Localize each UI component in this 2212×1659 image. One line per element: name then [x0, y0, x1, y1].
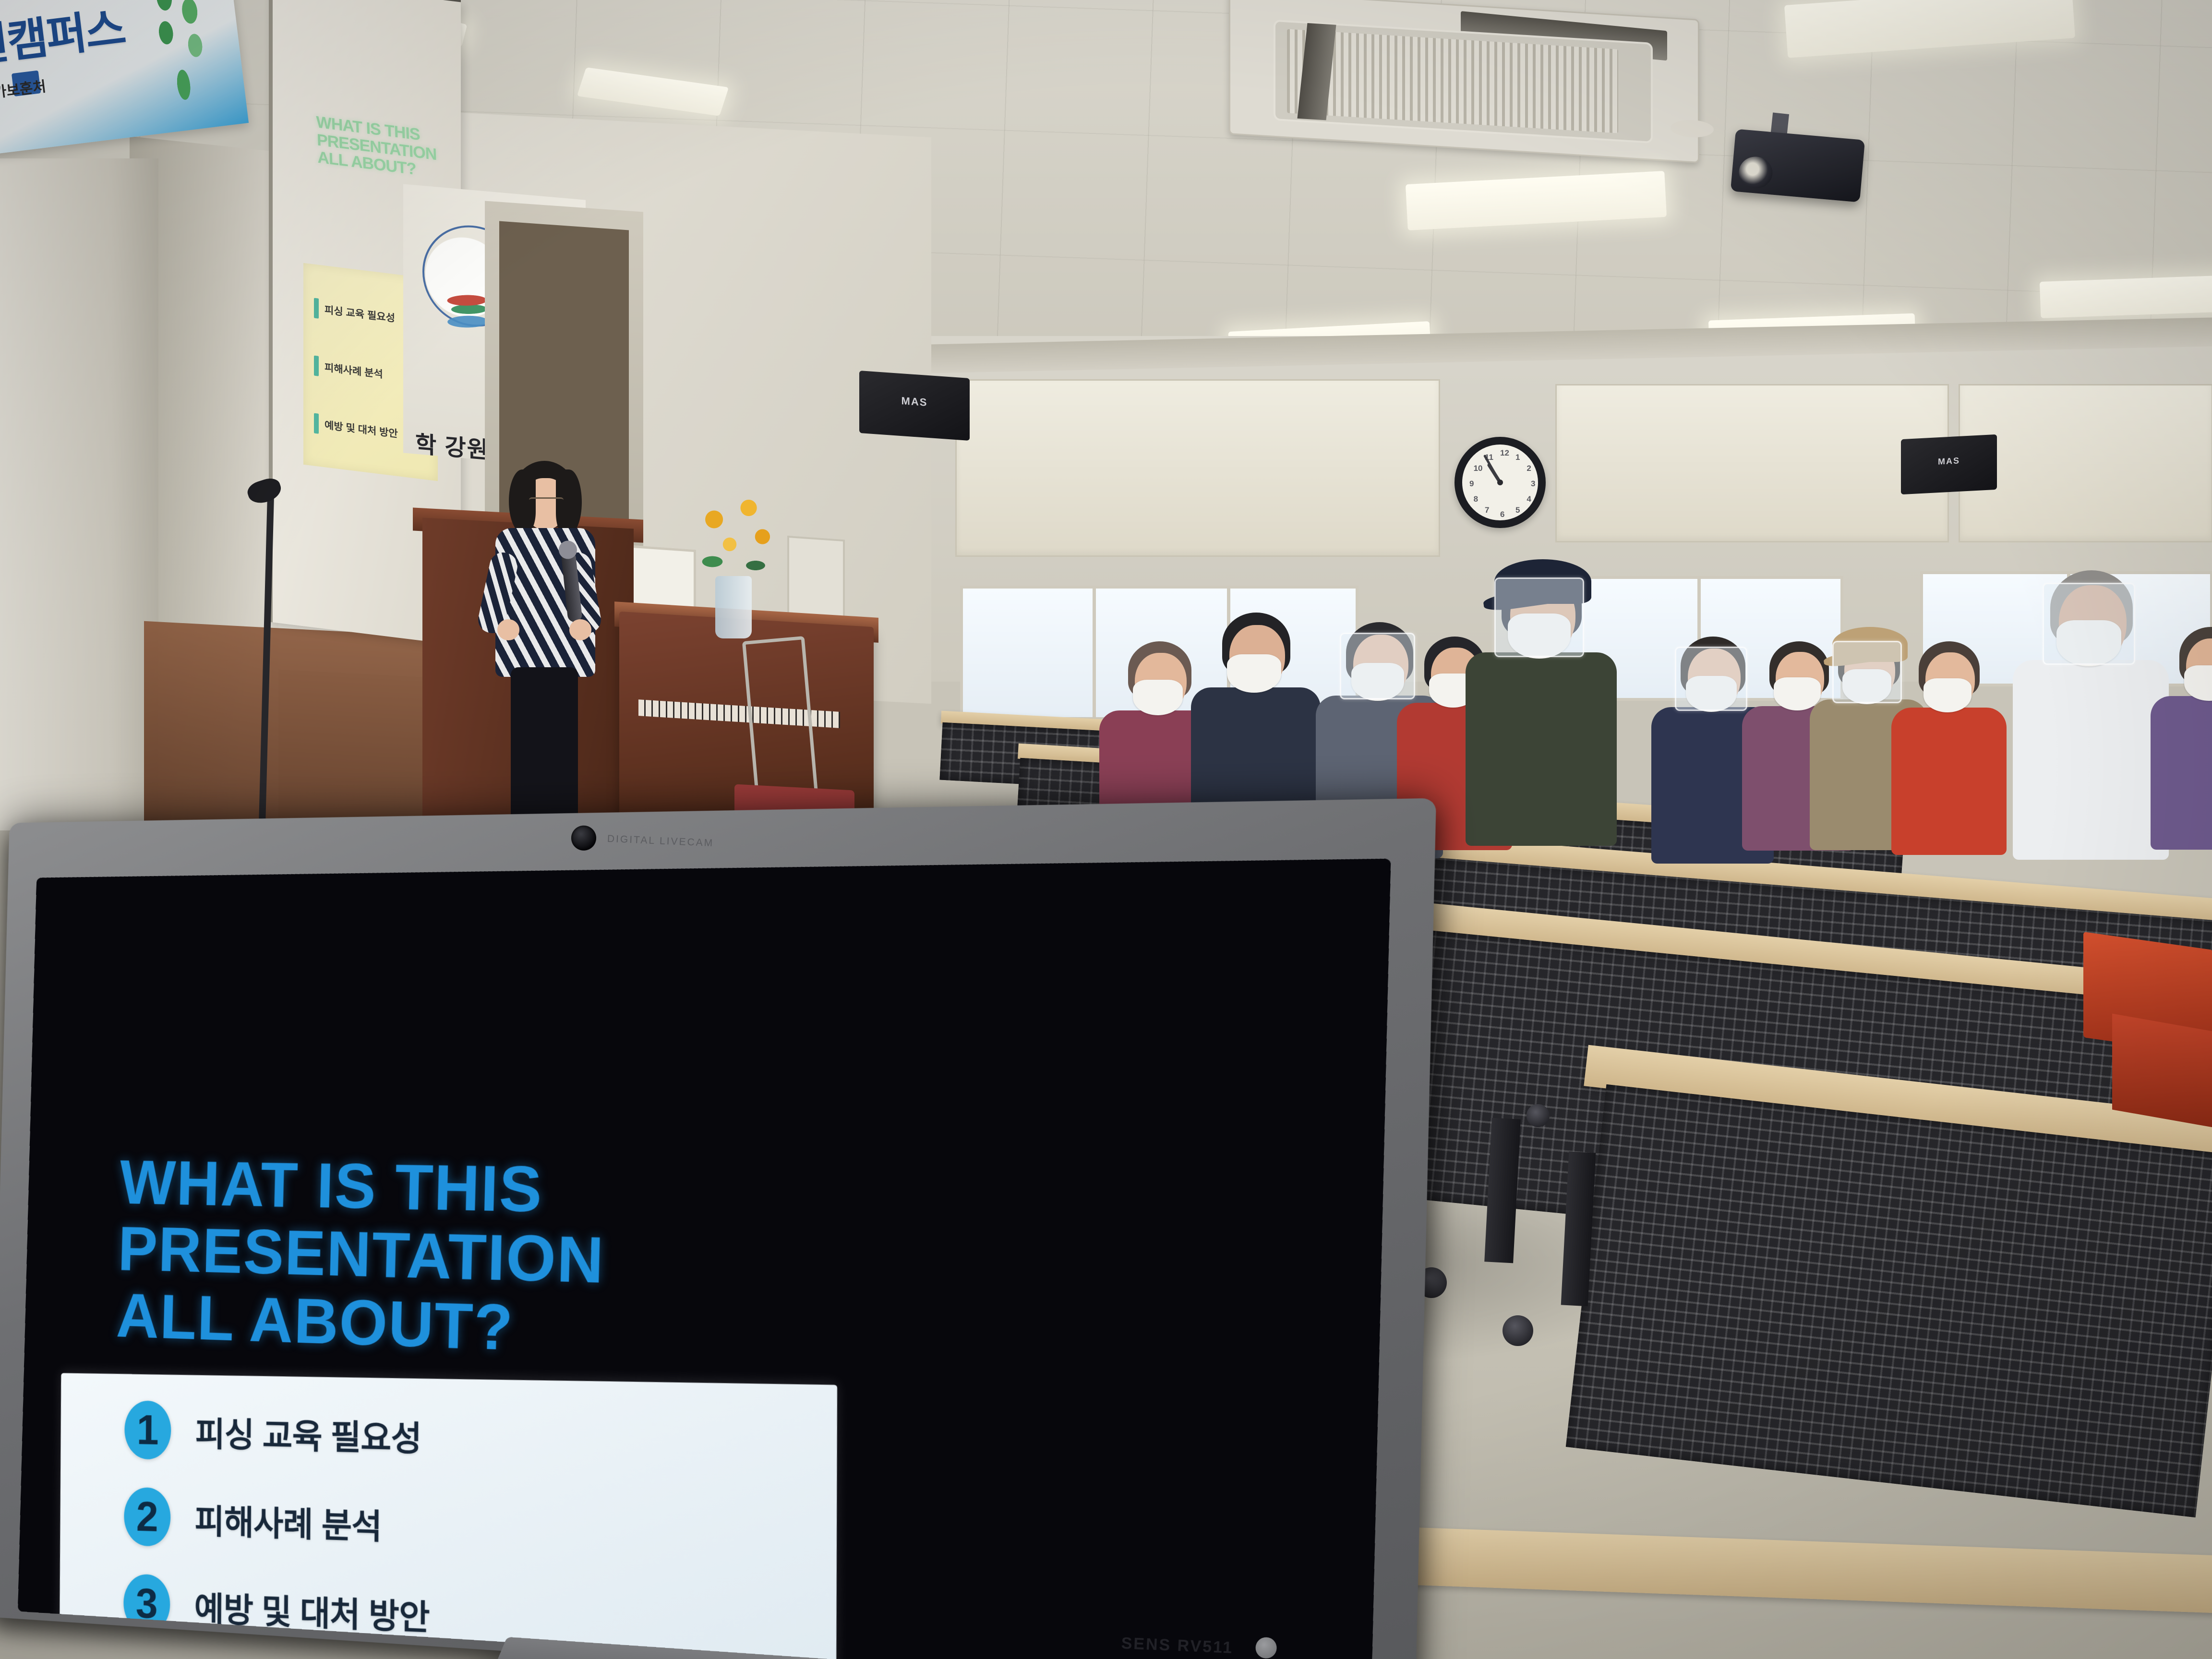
- slide-agenda-card: 1 피싱 교육 필요성 2 피해사례 분석 3 예방 및 대처 방안: [60, 1373, 837, 1659]
- red-storage-bin: [2112, 1013, 2212, 1127]
- audience-member: [2146, 624, 2212, 845]
- agenda-label: 피싱 교육 필요성: [195, 1407, 421, 1461]
- banner-subtext: 국가보훈처: [0, 74, 47, 103]
- structural-column: [0, 158, 158, 830]
- speaker-brand-label: MAS: [902, 395, 928, 409]
- desk-modesty-panel: [1566, 1084, 2212, 1517]
- projected-card-row: 예방 및 대처 방안: [314, 413, 398, 444]
- agenda-number-badge: 2: [124, 1487, 170, 1547]
- leaf-illustration-icon: [144, 0, 222, 120]
- wall-speaker: MAS: [859, 371, 970, 441]
- window-blind[interactable]: [955, 379, 1440, 557]
- agenda-number-badge: 1: [124, 1400, 171, 1460]
- flower-vase: [715, 576, 752, 638]
- photo-scene: 원캠퍼스 국가보훈처 WHAT IS THIS PRESENTATION ALL…: [0, 0, 2212, 1659]
- clock-numeral: 12: [1500, 448, 1509, 458]
- face-mask-icon: [1133, 680, 1183, 715]
- desk-caster: [1503, 1315, 1533, 1346]
- laptop-screen-bezel: WHAT IS THIS PRESENTATION ALL ABOUT? 1 피…: [18, 859, 1391, 1659]
- face-mask-icon: [1923, 678, 1972, 712]
- desk-caster: [1527, 1104, 1550, 1127]
- audience-torso: [2151, 696, 2212, 850]
- clock-numeral: 9: [1469, 479, 1474, 489]
- clock-numeral: 10: [1474, 464, 1483, 473]
- presentation-slide: WHAT IS THIS PRESENTATION ALL ABOUT? 1 피…: [18, 859, 1391, 1659]
- clock-numeral: 4: [1527, 494, 1531, 504]
- ceiling-projector-icon: [1731, 129, 1865, 202]
- glasses-icon: [529, 497, 564, 504]
- face-shield-icon: [2043, 583, 2135, 665]
- laptop[interactable]: DIGITAL LIVECAM WHAT IS THIS PRESENTATIO…: [0, 781, 1409, 1659]
- face-shield-icon: [1675, 647, 1747, 711]
- presenter-hand-right: [569, 619, 591, 640]
- ceiling-ac-cassette-icon: [1229, 0, 1699, 163]
- speaker-brand-label: MAS: [1938, 456, 1960, 467]
- accent-bar-icon: [314, 356, 319, 376]
- clock-numeral: 5: [1515, 505, 1520, 515]
- clock-numeral: 8: [1474, 494, 1478, 504]
- presenter-hand-left: [497, 619, 519, 640]
- window-blind[interactable]: [1555, 384, 1949, 542]
- presenter: [475, 461, 600, 845]
- face-mask-icon: [2184, 665, 2212, 701]
- wall-speaker: MAS: [1901, 434, 1997, 494]
- projected-card-row: 피해사례 분석: [314, 356, 383, 385]
- agenda-item: 1 피싱 교육 필요성: [124, 1400, 421, 1466]
- banner-headline: 원캠퍼스: [0, 0, 128, 75]
- slide-title: WHAT IS THIS PRESENTATION ALL ABOUT?: [116, 1149, 807, 1372]
- accent-bar-icon: [314, 413, 319, 434]
- accent-bar-icon: [314, 298, 319, 319]
- clock-numeral: 7: [1485, 505, 1489, 515]
- agenda-label: 피해사례 분석: [195, 1494, 382, 1549]
- face-mask-icon: [1227, 654, 1281, 693]
- audience-member: [1887, 638, 2025, 851]
- projected-card-row: 피싱 교육 필요성: [314, 298, 395, 328]
- clock-numeral: 1: [1515, 453, 1520, 462]
- face-shield-icon: [1494, 577, 1584, 657]
- clock-center-pin: [1497, 480, 1503, 485]
- clock-numeral: 3: [1531, 479, 1535, 489]
- audience-torso: [1891, 708, 2007, 855]
- audience-member: [1459, 562, 1641, 840]
- wall-control-panel[interactable]: [787, 536, 845, 621]
- small-whiteboard: [624, 545, 696, 612]
- agenda-item: 2 피해사례 분석: [124, 1487, 382, 1554]
- clock-numeral: 6: [1500, 510, 1504, 519]
- audience-torso: [1466, 652, 1617, 846]
- wall-clock: 121234567891011: [1455, 437, 1546, 528]
- ceiling-light: [2040, 275, 2212, 318]
- clock-numeral: 2: [1527, 464, 1531, 473]
